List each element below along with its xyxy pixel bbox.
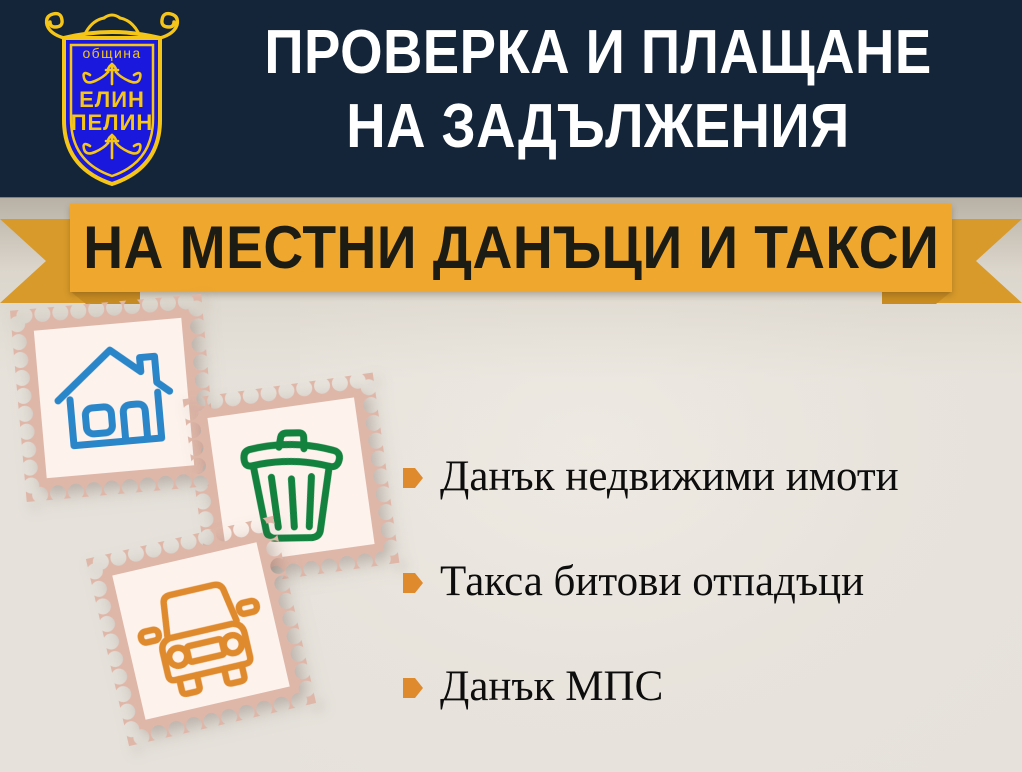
- coat-of-arms-shield-icon: община ЕЛИН ПЕЛИН: [38, 8, 186, 190]
- crest-municipality-word: община: [82, 45, 141, 61]
- list-item-label: Данък МПС: [440, 663, 663, 711]
- arrow-pentagon-bullet-icon: [402, 675, 424, 701]
- title-line-1: ПРОВЕРКА И ПЛАЩАНЕ: [239, 16, 957, 90]
- crest-name-line2: ПЕЛИН: [71, 110, 154, 135]
- tax-types-list: Данък недвижими имоти Такса битови отпад…: [402, 424, 1002, 739]
- poster-root: община ЕЛИН ПЕЛИН ПРОВЕРКА И ПЛАЩАНЕ НА …: [0, 0, 1022, 772]
- list-item-label: Данък недвижими имоти: [440, 453, 899, 501]
- arrow-pentagon-bullet-icon: [402, 570, 424, 596]
- arrow-pentagon-bullet-icon: [402, 465, 424, 491]
- list-item-label: Такса битови отпадъци: [440, 558, 864, 606]
- stamp-group: [0, 290, 420, 772]
- list-item[interactable]: Такса битови отпадъци: [402, 529, 1002, 634]
- page-title: ПРОВЕРКА И ПЛАЩАНЕ НА ЗАДЪЛЖЕНИЯ: [190, 16, 1006, 164]
- crest-name-line1: ЕЛИН: [79, 87, 145, 112]
- title-line-2: НА ЗАДЪЛЖЕНИЯ: [239, 90, 957, 164]
- header-bar: община ЕЛИН ПЕЛИН ПРОВЕРКА И ПЛАЩАНЕ НА …: [0, 0, 1022, 198]
- list-item[interactable]: Данък недвижими имоти: [402, 424, 1002, 529]
- header-inner: община ЕЛИН ПЕЛИН ПРОВЕРКА И ПЛАЩАНЕ НА …: [0, 0, 1022, 198]
- list-item[interactable]: Данък МПС: [402, 634, 1002, 739]
